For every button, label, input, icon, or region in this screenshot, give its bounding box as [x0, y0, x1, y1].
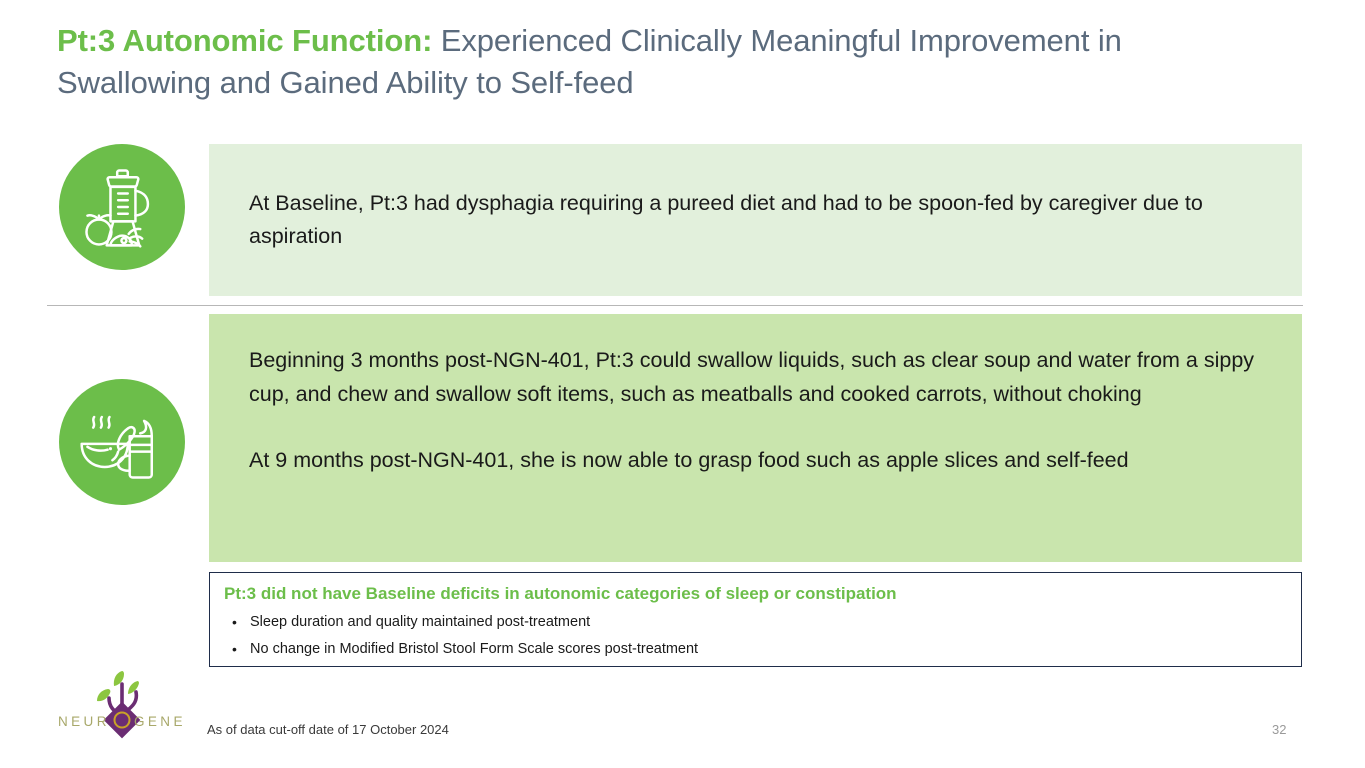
- footer-data-cutoff-note: As of data cut-off date of 17 October 20…: [207, 721, 449, 739]
- post-treatment-paragraph-2: At 9 months post-NGN-401, she is now abl…: [249, 444, 1262, 478]
- note-heading: Pt:3 did not have Baseline deficits in a…: [224, 582, 1287, 606]
- blender-icon: [59, 144, 185, 270]
- note-bullet-item: • No change in Modified Bristol Stool Fo…: [224, 637, 1287, 662]
- post-treatment-paragraph-1: Beginning 3 months post-NGN-401, Pt:3 co…: [249, 344, 1262, 411]
- soup-bowl-sippy-cup-icon: [59, 379, 185, 505]
- note-bullet-text: No change in Modified Bristol Stool Form…: [250, 637, 698, 662]
- logo-text-right: GENE: [134, 714, 186, 729]
- page-title: Pt:3 Autonomic Function: Experienced Cli…: [57, 20, 1237, 104]
- baseline-deficits-note-box: Pt:3 did not have Baseline deficits in a…: [209, 572, 1302, 667]
- logo-text-left: NEUR: [58, 714, 110, 729]
- neurogene-logo: NEUR GENE: [56, 667, 188, 743]
- note-bullet-text: Sleep duration and quality maintained po…: [250, 610, 590, 635]
- section-divider: [47, 305, 1303, 306]
- page-title-accent: Pt:3 Autonomic Function:: [57, 23, 432, 58]
- bullet-marker-icon: •: [232, 637, 250, 662]
- bullet-marker-icon: •: [232, 610, 250, 635]
- page-number: 32: [1272, 721, 1286, 739]
- note-bullet-item: • Sleep duration and quality maintained …: [224, 610, 1287, 635]
- baseline-statement-box: At Baseline, Pt:3 had dysphagia requirin…: [209, 144, 1302, 296]
- post-treatment-statement-box: Beginning 3 months post-NGN-401, Pt:3 co…: [209, 314, 1302, 562]
- baseline-statement-text: At Baseline, Pt:3 had dysphagia requirin…: [249, 187, 1262, 254]
